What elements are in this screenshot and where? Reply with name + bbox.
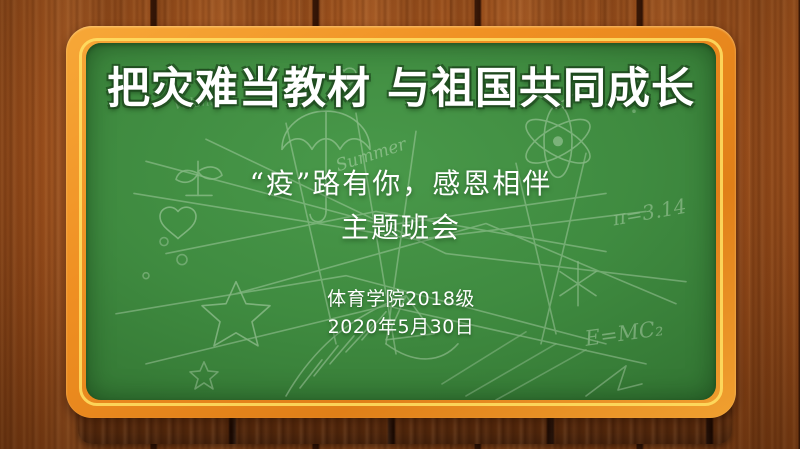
slide-meta: 体育学院2018级 2020年5月30日 [327,285,475,342]
slide-text-content: 把灾难当教材 与祖国共同成长 “疫”路有你，感恩相伴 主题班会 体育学院2018… [86,43,716,400]
subtitle-line-1: “疫”路有你，感恩相伴 [250,167,553,200]
slide-stage: Summer Valentine [0,0,800,449]
meta-date: 2020年5月30日 [327,313,475,342]
page-title: 把灾难当教材 与祖国共同成长 [107,67,695,112]
meta-class-name: 体育学院2018级 [327,285,475,314]
slide-subtitle: “疫”路有你，感恩相伴 主题班会 [250,162,553,249]
chalkboard-surface: Summer Valentine [86,43,716,400]
chalkboard-frame: Summer Valentine [66,26,736,418]
subtitle-line-2: 主题班会 [250,206,553,249]
